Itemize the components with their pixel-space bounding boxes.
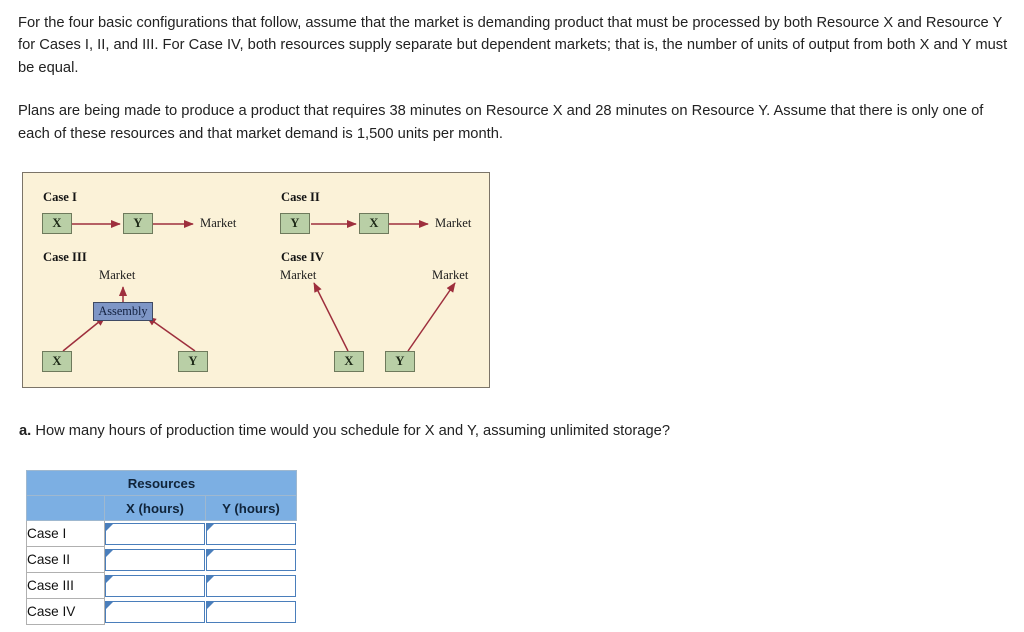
case-4-node-x: X [334,351,364,372]
cell-flag-icon [106,524,113,531]
case-2-node-y: Y [280,213,310,234]
case-2-y-input[interactable] [206,549,296,571]
case-3-market-label: Market [99,268,135,283]
row-label-case-1: Case I [27,521,105,547]
configurations-diagram: Case I X Y Market Case II Y X Market Cas… [22,172,490,388]
case-3-y-input[interactable] [206,575,296,597]
case-2-market-label: Market [435,216,471,231]
row-label-case-4: Case IV [27,599,105,625]
case-1-node-x: X [42,213,72,234]
case-1-y-cell[interactable] [206,521,297,547]
cell-flag-icon [207,576,214,583]
case-4-market-label-left: Market [280,268,316,283]
question-a: a. How many hours of production time wou… [19,421,670,442]
table-row: Case IV [27,599,297,625]
case-3-node-y: Y [178,351,208,372]
intro-text-block: For the four basic configurations that f… [18,12,1018,145]
table-header-column-row: X (hours) Y (hours) [27,496,297,521]
case-2-title: Case II [281,190,320,205]
case-4-market-label-right: Market [432,268,468,283]
case-4-y-cell[interactable] [206,599,297,625]
cell-flag-icon [207,524,214,531]
case-3-y-cell[interactable] [206,573,297,599]
cell-flag-icon [207,602,214,609]
case-4-x-cell[interactable] [105,599,206,625]
case-3-assembly-box: Assembly [93,302,153,321]
case-1-node-y: Y [123,213,153,234]
table-header-x-hours: X (hours) [105,496,206,521]
case-2-node-x: X [359,213,389,234]
table-row: Case II [27,547,297,573]
case-3-title: Case III [43,250,87,265]
intro-paragraph-2: Plans are being made to produce a produc… [18,100,1013,145]
question-text: How many hours of production time would … [35,423,670,439]
case-1-x-input[interactable] [105,523,205,545]
cell-flag-icon [106,550,113,557]
table-row: Case I [27,521,297,547]
case-3-x-cell[interactable] [105,573,206,599]
case-2-x-input[interactable] [105,549,205,571]
case-1-x-cell[interactable] [105,521,206,547]
table-header-y-hours: Y (hours) [206,496,297,521]
diagram-arrows [23,173,491,389]
cell-flag-icon [106,576,113,583]
case-1-market-label: Market [200,216,236,231]
intro-paragraph-1: For the four basic configurations that f… [18,12,1013,79]
case-4-x-input[interactable] [105,601,205,623]
table-row: Case III [27,573,297,599]
case-4-y-input[interactable] [206,601,296,623]
case-4-node-y: Y [385,351,415,372]
answer-table-container: Resources X (hours) Y (hours) Case I [26,470,297,625]
case-4-title: Case IV [281,250,324,265]
question-label: a. [19,423,31,439]
case-1-title: Case I [43,190,77,205]
case-3-node-x: X [42,351,72,372]
case-1-y-input[interactable] [206,523,296,545]
case-3-x-input[interactable] [105,575,205,597]
cell-flag-icon [106,602,113,609]
row-label-case-2: Case II [27,547,105,573]
row-label-case-3: Case III [27,573,105,599]
cell-flag-icon [207,550,214,557]
case-2-y-cell[interactable] [206,547,297,573]
table-header-group-row: Resources [27,471,297,496]
case-2-x-cell[interactable] [105,547,206,573]
table-group-header: Resources [27,471,297,496]
answer-table: Resources X (hours) Y (hours) Case I [26,470,297,625]
table-blank-header [27,496,105,521]
